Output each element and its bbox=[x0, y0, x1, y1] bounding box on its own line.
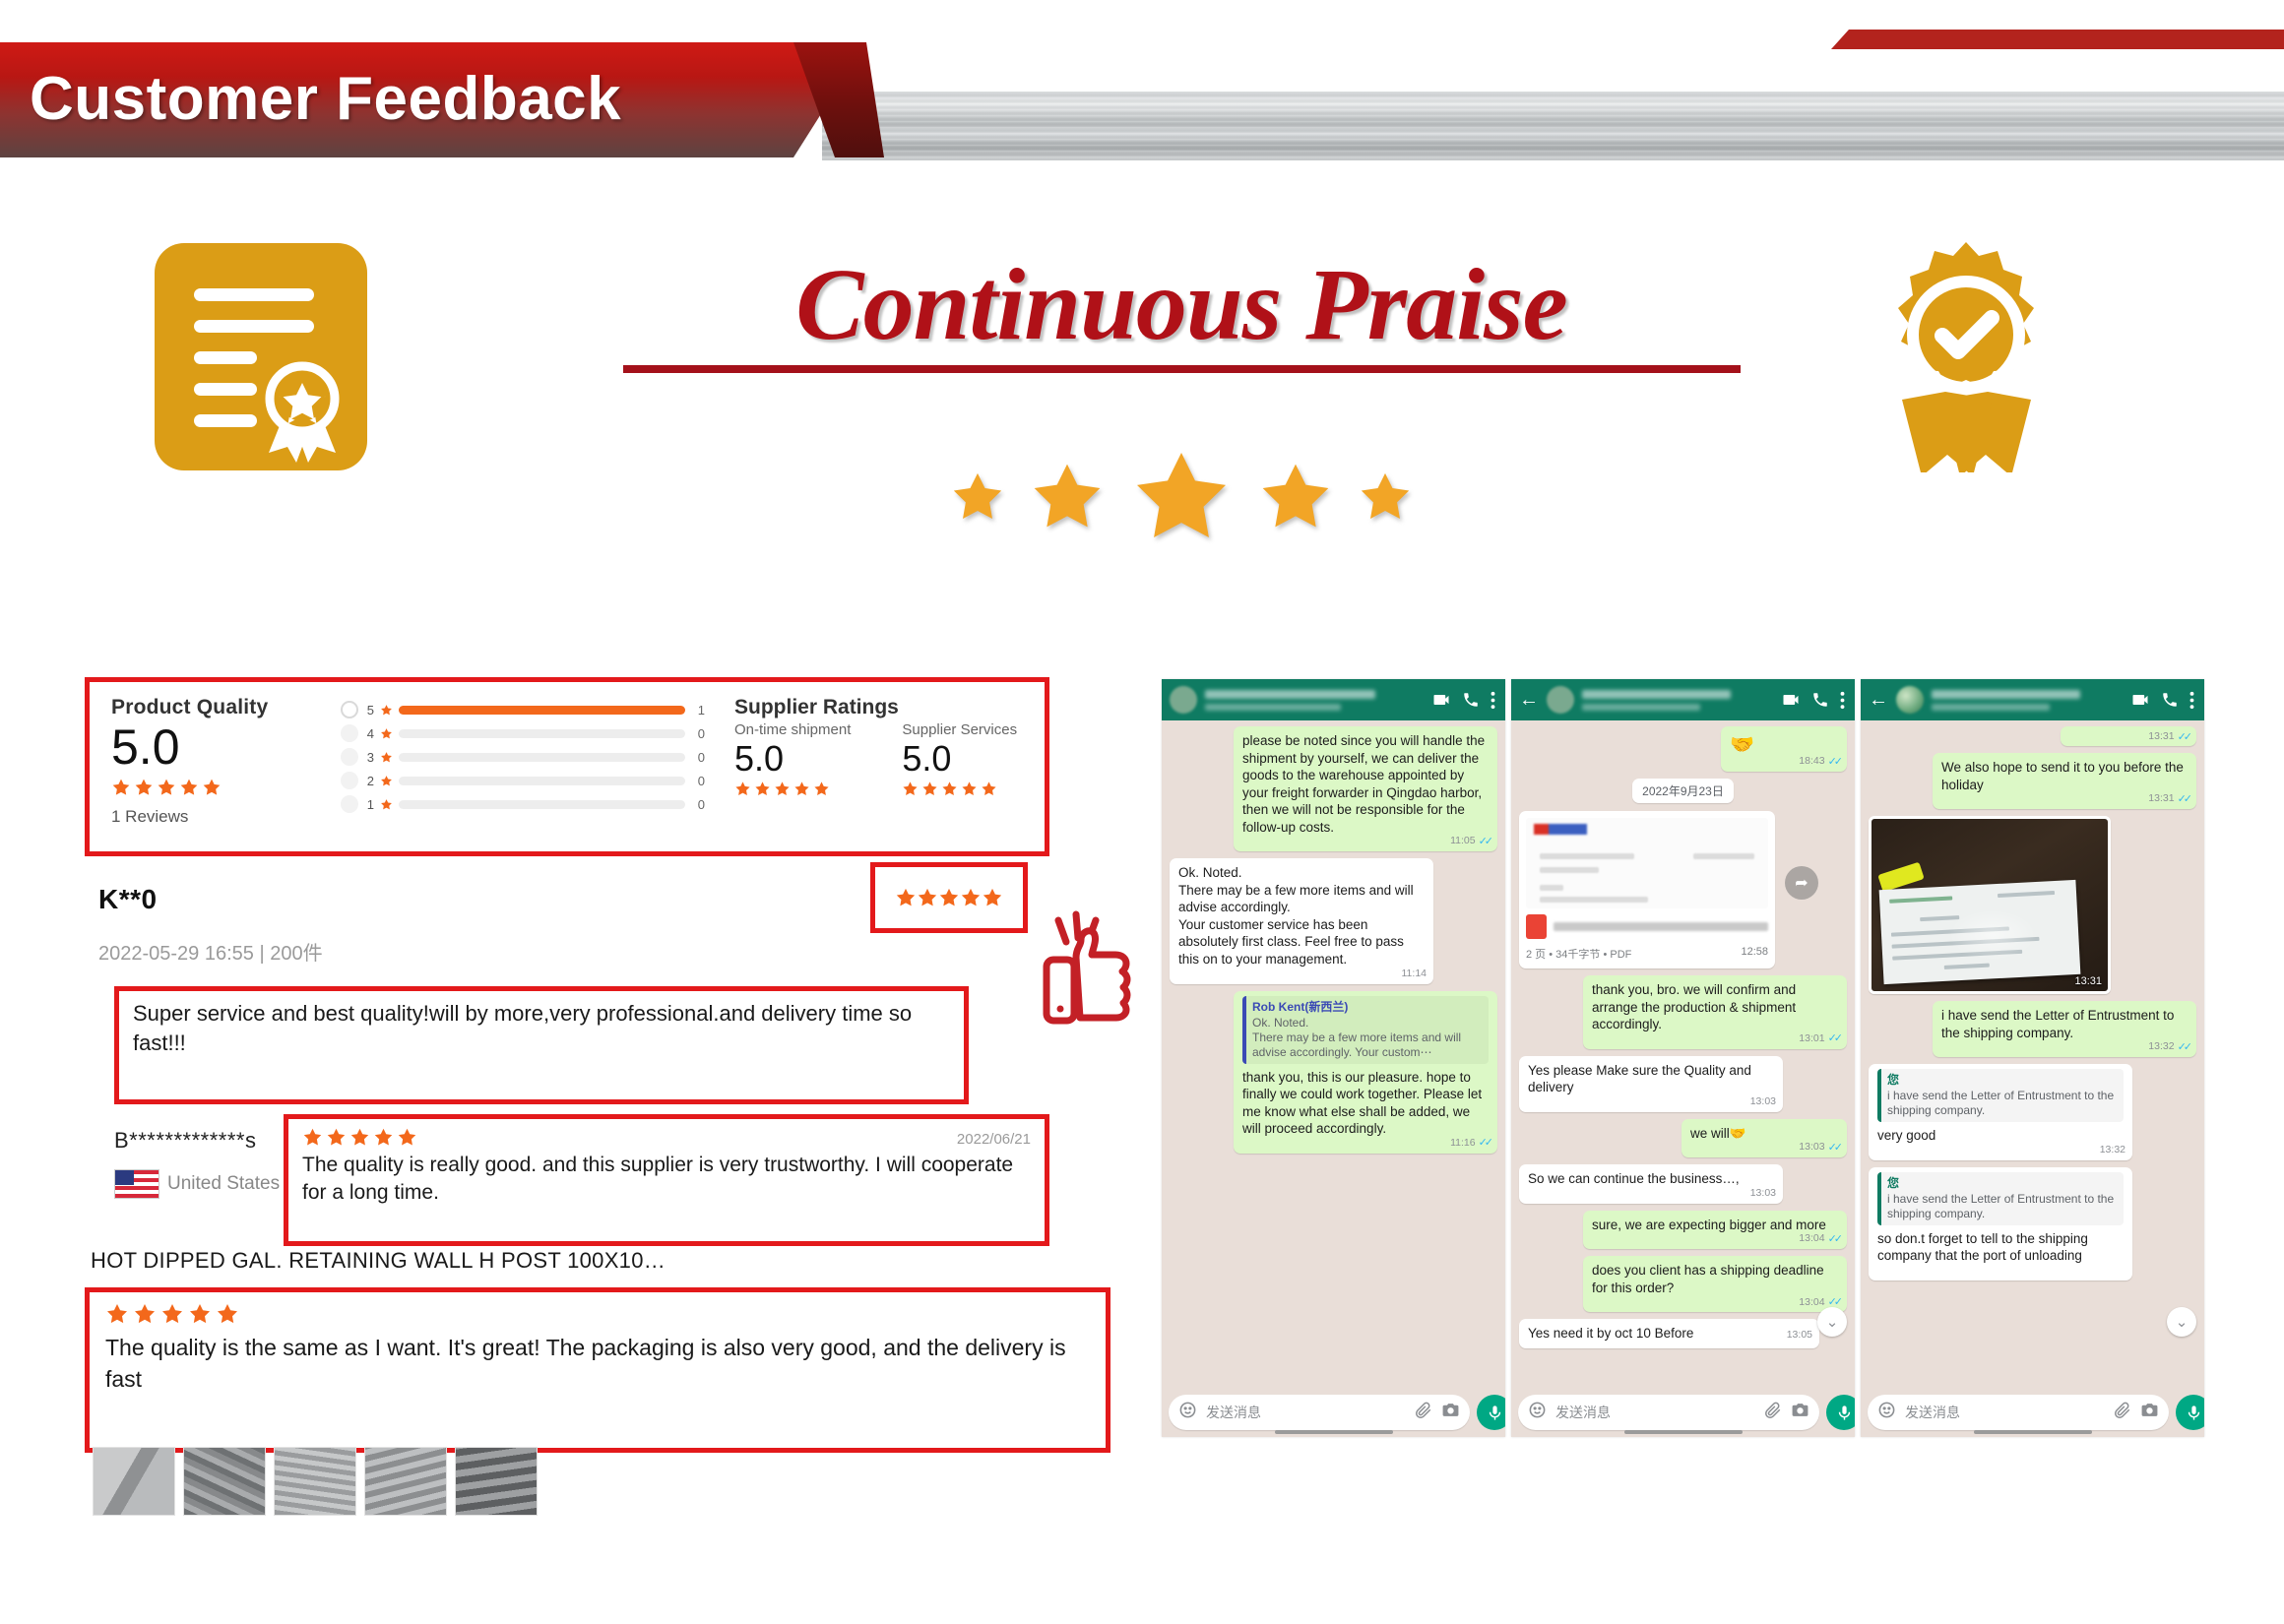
star-icon bbox=[397, 1127, 417, 1148]
chat-contact-name bbox=[1932, 690, 2123, 711]
reviews-count: 1 Reviews bbox=[111, 807, 338, 827]
certificate-icon bbox=[153, 241, 369, 477]
document-attachment[interactable]: 2 页 • 34千字节 • PDF 12:58 ➦ bbox=[1519, 811, 1775, 968]
rating-bar-row[interactable]: 5 1 bbox=[341, 698, 705, 721]
product-thumb-4[interactable] bbox=[364, 1447, 447, 1516]
review-1-stars bbox=[870, 862, 1028, 933]
rating-bar-track bbox=[399, 753, 685, 762]
review-2-date: 2022/06/21 bbox=[957, 1131, 1031, 1148]
star-icon bbox=[981, 781, 997, 797]
reviews-panel: Product Quality 5.0 1 Reviews 5 1 4 bbox=[77, 669, 1101, 1526]
hero-underline bbox=[623, 365, 1741, 373]
star-icon bbox=[380, 727, 393, 740]
voice-record-button[interactable] bbox=[1477, 1395, 1505, 1430]
star-icon bbox=[949, 468, 1006, 526]
star-icon bbox=[1357, 468, 1414, 526]
star-icon bbox=[105, 1302, 129, 1326]
rating-bar-stars: 4 bbox=[364, 726, 374, 741]
chat-message: does you client has a shipping deadline … bbox=[1583, 1256, 1847, 1312]
back-arrow-icon[interactable]: ← bbox=[1869, 690, 1888, 710]
star-icon bbox=[216, 1302, 239, 1326]
page-title: Customer Feedback bbox=[30, 47, 778, 151]
video-call-icon[interactable] bbox=[2130, 690, 2150, 710]
supplier-rating-stars bbox=[734, 781, 851, 797]
rating-filter-radio[interactable] bbox=[341, 795, 358, 813]
star-icon bbox=[774, 781, 791, 797]
review-2-stars bbox=[302, 1127, 1031, 1148]
review-3-text: The quality is the same as I want. It's … bbox=[105, 1332, 1090, 1395]
phone-call-icon[interactable] bbox=[2161, 691, 2179, 709]
whatsapp-screenshots: please be noted since you will handle th… bbox=[1162, 679, 2205, 1437]
review-2-author: B*************s bbox=[114, 1128, 256, 1154]
document-logo bbox=[1534, 824, 1587, 835]
pdf-file-icon bbox=[1526, 914, 1547, 939]
read-ticks-icon: ✓✓ bbox=[1828, 1031, 1840, 1045]
chat-2-header: ← bbox=[1511, 679, 1855, 720]
emoji-icon[interactable] bbox=[1178, 1401, 1197, 1424]
chat-message: Ok. Noted. There may be a few more items… bbox=[1170, 858, 1433, 983]
product-title: HOT DIPPED GAL. RETAINING WALL H POST 10… bbox=[91, 1248, 666, 1274]
hero-star-rating bbox=[778, 418, 1585, 576]
product-quality-stars bbox=[111, 778, 338, 797]
award-badge-icon bbox=[1856, 236, 2077, 477]
chat-message-quoted: 您 i have send the Letter of Entrustment … bbox=[1869, 1167, 2132, 1280]
supplier-rating-services: Supplier Services 5.0 bbox=[902, 721, 1017, 797]
star-icon bbox=[734, 781, 751, 797]
product-thumb-1[interactable] bbox=[93, 1447, 175, 1516]
hero-title-block: Continuous Praise bbox=[610, 251, 1752, 373]
chat-3-messages[interactable]: 13:31✓✓ We also hope to send it to you b… bbox=[1861, 720, 2204, 1394]
chat-message: please be noted since you will handle th… bbox=[1234, 726, 1497, 851]
star-icon bbox=[349, 1127, 370, 1148]
star-icon bbox=[326, 1127, 347, 1148]
supplier-rating-label: Supplier Services bbox=[902, 721, 1017, 738]
document-meta: 2 页 • 34千字节 • PDF bbox=[1526, 946, 1631, 962]
more-options-icon[interactable] bbox=[2189, 691, 2194, 710]
rating-filter-radio[interactable] bbox=[341, 701, 358, 718]
supplier-rating-ontime: On-time shipment 5.0 bbox=[734, 721, 851, 797]
supplier-rating-stars bbox=[902, 781, 1017, 797]
phone-call-icon[interactable] bbox=[1462, 691, 1480, 709]
forward-icon[interactable]: ➦ bbox=[1785, 866, 1818, 900]
star-icon bbox=[941, 781, 958, 797]
rating-bar-track bbox=[399, 729, 685, 738]
home-indicator bbox=[1974, 1430, 2092, 1434]
supplier-rating-label: On-time shipment bbox=[734, 721, 851, 738]
star-icon bbox=[380, 775, 393, 787]
document-time: 12:58 bbox=[1741, 946, 1768, 962]
voice-record-button[interactable] bbox=[1826, 1395, 1855, 1430]
rating-filter-radio[interactable] bbox=[341, 748, 358, 766]
quoted-message: 您 i have send the Letter of Entrustment … bbox=[1877, 1069, 2124, 1122]
review-3-stars bbox=[105, 1302, 1090, 1326]
chat-message-partial: 13:31✓✓ bbox=[2061, 726, 2196, 746]
star-icon bbox=[157, 778, 176, 797]
whatsapp-chat-2: ← 🤝 18:43✓✓ 2022年9月23日 bbox=[1511, 679, 1855, 1437]
star-icon bbox=[380, 704, 393, 717]
star-icon bbox=[302, 1127, 323, 1148]
rating-filter-radio[interactable] bbox=[341, 772, 358, 789]
rating-bar-row[interactable]: 4 0 bbox=[341, 721, 705, 745]
read-ticks-icon: ✓✓ bbox=[1828, 755, 1840, 769]
read-ticks-icon: ✓✓ bbox=[1479, 1136, 1491, 1150]
back-arrow-icon[interactable]: ← bbox=[1519, 690, 1539, 710]
rating-bar-row[interactable]: 2 0 bbox=[341, 769, 705, 792]
star-icon bbox=[961, 781, 978, 797]
photo-attachment[interactable]: 13:31 bbox=[1869, 816, 2111, 994]
supplier-ratings-block: Supplier Ratings On-time shipment 5.0 Su… bbox=[734, 696, 1030, 797]
photo-time: 13:31 bbox=[2074, 975, 2102, 987]
star-icon bbox=[960, 887, 982, 908]
star-icon bbox=[895, 887, 917, 908]
attach-icon[interactable] bbox=[1764, 1402, 1782, 1424]
star-icon bbox=[813, 781, 830, 797]
review-2-box: 2022/06/21 The quality is really good. a… bbox=[284, 1114, 1049, 1246]
chat-message-quoted: 您 i have send the Letter of Entrustment … bbox=[1869, 1064, 2132, 1160]
avatar bbox=[1170, 686, 1197, 714]
star-icon bbox=[1128, 444, 1235, 550]
rating-bar-row[interactable]: 1 0 bbox=[341, 792, 705, 816]
voice-record-button[interactable] bbox=[2176, 1395, 2204, 1430]
quoted-message: Rob Kent(新西兰) Ok. Noted. There may be a … bbox=[1242, 996, 1489, 1064]
product-quality-label: Product Quality bbox=[111, 696, 338, 719]
read-ticks-icon: ✓✓ bbox=[2178, 730, 2189, 744]
review-2-text: The quality is really good. and this sup… bbox=[302, 1152, 1031, 1208]
chat-2-messages[interactable]: 🤝 18:43✓✓ 2022年9月23日 2 页 • bbox=[1511, 720, 1855, 1394]
star-icon bbox=[133, 1302, 157, 1326]
rating-bar-row[interactable]: 3 0 bbox=[341, 745, 705, 769]
review-1-meta: 2022-05-29 16:55 | 200件 bbox=[98, 937, 323, 966]
message-input[interactable]: 发送消息 bbox=[1169, 1395, 1470, 1430]
emoji-icon[interactable] bbox=[1877, 1401, 1896, 1424]
star-icon bbox=[1028, 458, 1107, 536]
attach-icon[interactable] bbox=[1415, 1402, 1432, 1424]
quoted-message: 您 i have send the Letter of Entrustment … bbox=[1877, 1172, 2124, 1225]
message-input[interactable]: 发送消息 bbox=[1518, 1395, 1819, 1430]
chat-contact-name bbox=[1205, 690, 1424, 711]
chat-1-header bbox=[1162, 679, 1505, 720]
star-icon bbox=[921, 781, 938, 797]
product-thumbnails bbox=[93, 1447, 538, 1516]
attach-icon[interactable] bbox=[2114, 1402, 2131, 1424]
avatar bbox=[1547, 686, 1574, 714]
rating-bar-count: 0 bbox=[691, 726, 705, 741]
rating-bar-stars: 5 bbox=[364, 703, 374, 718]
star-icon bbox=[188, 1302, 212, 1326]
star-icon bbox=[202, 778, 222, 797]
thumbs-up-sticker bbox=[1039, 891, 1152, 1038]
date-divider: 2022年9月23日 bbox=[1632, 779, 1734, 803]
read-ticks-icon: ✓✓ bbox=[1828, 1232, 1840, 1246]
message-input-placeholder: 发送消息 bbox=[1206, 1403, 1406, 1422]
chat-message-quoted: Rob Kent(新西兰) Ok. Noted. There may be a … bbox=[1234, 991, 1497, 1154]
phone-call-icon[interactable] bbox=[1811, 691, 1829, 709]
video-call-icon[interactable] bbox=[1781, 690, 1801, 710]
star-icon bbox=[380, 751, 393, 764]
whatsapp-chat-3: ← 13:31✓✓ We also hope to send it to you… bbox=[1861, 679, 2204, 1437]
supplier-rating-score: 5.0 bbox=[734, 738, 851, 779]
document-filename bbox=[1554, 922, 1768, 931]
home-indicator bbox=[1275, 1430, 1393, 1434]
rating-filter-radio[interactable] bbox=[341, 724, 358, 742]
rating-bar-track bbox=[399, 800, 685, 809]
chat-message: We also hope to send it to you before th… bbox=[1933, 753, 2196, 809]
emoji-icon[interactable] bbox=[1528, 1401, 1547, 1424]
review-1-author: K**0 bbox=[98, 884, 158, 915]
rating-bar-stars: 2 bbox=[364, 774, 374, 788]
product-quality-score: 5.0 bbox=[111, 721, 338, 774]
review-1-text-box: Super service and best quality!will by m… bbox=[114, 986, 969, 1104]
star-icon bbox=[134, 778, 154, 797]
star-icon bbox=[380, 798, 393, 811]
hero-title: Continuous Praise bbox=[610, 251, 1752, 359]
star-icon bbox=[1256, 458, 1335, 536]
camera-icon[interactable] bbox=[1441, 1401, 1460, 1424]
read-ticks-icon: ✓✓ bbox=[2178, 792, 2189, 806]
read-ticks-icon: ✓✓ bbox=[1828, 1141, 1840, 1155]
star-icon bbox=[111, 778, 131, 797]
scroll-to-bottom-button[interactable]: ⌄ bbox=[1817, 1307, 1847, 1337]
message-input-placeholder: 发送消息 bbox=[1905, 1403, 2105, 1422]
whatsapp-chat-1: please be noted since you will handle th… bbox=[1162, 679, 1505, 1437]
message-input[interactable]: 发送消息 bbox=[1868, 1395, 2169, 1430]
avatar bbox=[1896, 686, 1924, 714]
chat-message: thank you, bro. we will confirm and arra… bbox=[1583, 975, 1847, 1049]
star-icon bbox=[373, 1127, 394, 1148]
rating-bar-stars: 3 bbox=[364, 750, 374, 765]
star-icon bbox=[754, 781, 771, 797]
star-icon bbox=[793, 781, 810, 797]
chat-message: Yes please Make sure the Quality and del… bbox=[1519, 1056, 1783, 1112]
chat-3-header: ← bbox=[1861, 679, 2204, 720]
rating-bar-count: 0 bbox=[691, 750, 705, 765]
supplier-ratings-heading: Supplier Ratings bbox=[734, 696, 1030, 719]
star-icon bbox=[160, 1302, 184, 1326]
star-icon bbox=[902, 781, 919, 797]
us-flag-icon bbox=[114, 1169, 159, 1199]
document-preview bbox=[1526, 818, 1768, 908]
chat-message: i have send the Letter of Entrustment to… bbox=[1933, 1001, 2196, 1057]
chat-message: Yes need it by oct 10 Before 13:05 bbox=[1519, 1319, 1819, 1348]
star-icon bbox=[917, 887, 938, 908]
supplier-rating-score: 5.0 bbox=[902, 738, 1017, 779]
review-2-country: United States bbox=[167, 1173, 280, 1195]
page-header: Customer Feedback bbox=[0, 0, 2284, 157]
rating-bar-count: 1 bbox=[691, 703, 705, 718]
product-thumb-3[interactable] bbox=[274, 1447, 356, 1516]
header-silver-bar bbox=[822, 92, 2284, 160]
star-icon bbox=[982, 887, 1003, 908]
product-thumb-2[interactable] bbox=[183, 1447, 266, 1516]
product-quality-block: Product Quality 5.0 1 Reviews bbox=[111, 696, 338, 827]
chat-contact-name bbox=[1582, 690, 1773, 711]
camera-icon[interactable] bbox=[1791, 1401, 1809, 1424]
more-options-icon[interactable] bbox=[1840, 691, 1845, 710]
read-ticks-icon: ✓✓ bbox=[2178, 1040, 2189, 1054]
chat-1-messages[interactable]: please be noted since you will handle th… bbox=[1162, 720, 1505, 1394]
header-red-stripe bbox=[1831, 30, 2284, 49]
product-thumb-5[interactable] bbox=[455, 1447, 538, 1516]
chat-message: we will🤝 13:03✓✓ bbox=[1681, 1119, 1847, 1158]
star-icon bbox=[179, 778, 199, 797]
home-indicator bbox=[1624, 1430, 1743, 1434]
chat-message-emoji: 🤝 18:43✓✓ bbox=[1721, 726, 1847, 772]
camera-icon[interactable] bbox=[2140, 1401, 2159, 1424]
chat-message: So we can continue the business…, 13:03 bbox=[1519, 1164, 1783, 1204]
more-options-icon[interactable] bbox=[1491, 691, 1495, 710]
ratings-summary-box: Product Quality 5.0 1 Reviews 5 1 4 bbox=[85, 677, 1049, 856]
rating-bar-stars: 1 bbox=[364, 797, 374, 812]
chat-message: sure, we are expecting bigger and more 1… bbox=[1583, 1211, 1847, 1250]
review-1-text: Super service and best quality!will by m… bbox=[133, 999, 950, 1059]
read-ticks-icon: ✓✓ bbox=[1479, 835, 1491, 848]
rating-distribution: 5 1 4 0 3 0 2 bbox=[341, 698, 705, 816]
review-3-box: The quality is the same as I want. It's … bbox=[85, 1287, 1110, 1453]
message-input-placeholder: 发送消息 bbox=[1555, 1403, 1755, 1422]
star-icon bbox=[938, 887, 960, 908]
video-call-icon[interactable] bbox=[1431, 690, 1451, 710]
rating-bar-count: 0 bbox=[691, 774, 705, 788]
scroll-to-bottom-button[interactable]: ⌄ bbox=[2167, 1307, 2196, 1337]
rating-bar-track bbox=[399, 706, 685, 715]
rating-bar-count: 0 bbox=[691, 797, 705, 812]
rating-bar-track bbox=[399, 777, 685, 785]
